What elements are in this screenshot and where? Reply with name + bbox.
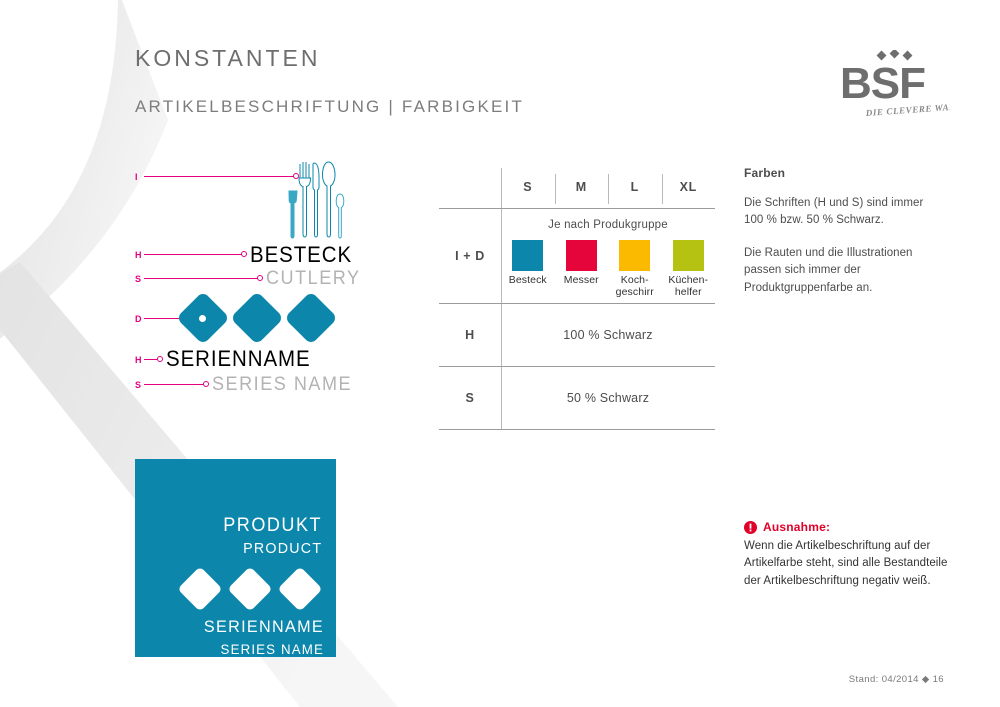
swatch-color-kochgeschirr <box>619 240 650 271</box>
card-product-label: PRODUCT <box>243 540 322 557</box>
table-value-h: 100 % Schwarz <box>563 328 652 342</box>
svg-text:BSF: BSF <box>840 59 925 108</box>
table-row-label-id: I + D <box>439 209 501 303</box>
exception-header: Ausnahme: <box>744 520 949 534</box>
callout-line-i <box>144 176 296 177</box>
table-row-label-h: H <box>439 328 501 342</box>
callout-label-h2: H <box>135 356 142 365</box>
swatch-group: Besteck Messer Koch-geschirr Küchen-helf… <box>501 240 715 299</box>
table-divider-s <box>501 367 502 429</box>
callout-line-h1 <box>144 254 244 255</box>
callout-label-s2: S <box>135 381 142 390</box>
table-col-m: M <box>555 166 609 208</box>
exception-title: Ausnahme: <box>763 520 830 534</box>
card-rhomb-group <box>181 567 321 611</box>
headline-besteck: BESTECK <box>250 244 352 266</box>
notes-paragraph-1: Die Schriften (H und S) sind immer 100 %… <box>744 195 944 230</box>
table-divider-2 <box>608 174 609 204</box>
card-rhomb-1 <box>177 566 222 611</box>
callout-dot-s1 <box>257 275 263 281</box>
callout-dot-s2 <box>203 381 209 387</box>
swatch-item-kuechenhelfer: Küchen-helfer <box>662 240 716 299</box>
table-divider-0 <box>501 168 502 208</box>
table-row-s: S 50 % Schwarz <box>439 367 715 429</box>
exception-body: Wenn die Artikelbeschriftung auf der Art… <box>744 538 949 590</box>
callout-label-h1: H <box>135 251 142 260</box>
callout-label-i: I <box>135 173 138 182</box>
table-divider-id <box>501 209 502 303</box>
headline-serienname: SERIENNAME <box>166 348 311 370</box>
warning-icon <box>744 521 757 534</box>
table-row-h: H 100 % Schwarz <box>439 304 715 366</box>
page-title: KONSTANTEN <box>135 45 320 72</box>
card-rhomb-3 <box>277 566 322 611</box>
swatch-caption-kuechenhelfer: Küchen-helfer <box>668 275 708 299</box>
swatch-color-besteck <box>512 240 543 271</box>
table-divider-h <box>501 304 502 366</box>
card-produkt-label: PRODUKT <box>223 515 322 537</box>
card-rhomb-2 <box>227 566 272 611</box>
swatch-color-messer <box>566 240 597 271</box>
page-subtitle: ARTIKELBESCHRIFTUNG | FARBIGKEIT <box>135 97 524 117</box>
callout-line-s1 <box>144 278 260 279</box>
notes-paragraph-2: Die Rauten und die Illustrationen passen… <box>744 245 944 297</box>
callout-dot-d <box>199 315 206 322</box>
diamond-rhomb-2 <box>230 291 284 345</box>
table-row-id: I + D Je nach Produkgruppe Besteck Messe… <box>439 209 715 303</box>
card-series-name-label: SERIES NAME <box>144 641 324 657</box>
table-divider-1 <box>555 174 556 204</box>
callout-label-d: D <box>135 315 142 324</box>
product-card-preview: PRODUKT PRODUCT SERIENNAME SERIES NAME <box>135 459 336 657</box>
spec-diagram: I H BESTECK S <box>130 160 350 400</box>
table-col-s: S <box>501 166 555 208</box>
table-header-corner <box>439 166 501 208</box>
notes-panel: Farben Die Schriften (H und S) sind imme… <box>744 166 944 297</box>
bsf-logo-icon: BSF DIE CLEVERE WAHL <box>838 50 950 122</box>
callout-line-s2 <box>144 384 206 385</box>
swatch-caption-kochgeschirr: Koch-geschirr <box>616 275 654 299</box>
swatch-color-kuechenhelfer <box>673 240 704 271</box>
footer-status: Stand: 04/2014 ◆ 16 <box>849 674 944 685</box>
swatch-caption-besteck: Besteck <box>509 275 547 287</box>
table-value-s: 50 % Schwarz <box>567 391 649 405</box>
table-rule-4 <box>439 429 715 430</box>
swatch-item-besteck: Besteck <box>501 240 555 299</box>
callout-dot-h1 <box>241 251 247 257</box>
swatch-item-messer: Messer <box>555 240 609 299</box>
callout-label-s1: S <box>135 275 142 284</box>
table-header-row: S M L XL <box>439 166 715 208</box>
swatch-caption-messer: Messer <box>564 275 599 287</box>
table-row-label-s: S <box>439 391 501 405</box>
slide-page: KONSTANTEN ARTIKELBESCHRIFTUNG | FARBIGK… <box>0 0 1000 707</box>
cutlery-illustration <box>285 160 345 240</box>
callout-dot-h2 <box>157 356 163 362</box>
color-spec-table: S M L XL I + D Je nach Produkgruppe Best… <box>439 166 715 430</box>
diamond-rhomb-3 <box>284 291 338 345</box>
table-col-l: L <box>608 166 662 208</box>
subline-series-name: SERIES NAME <box>212 375 352 394</box>
subline-cutlery: CUTLERY <box>266 269 361 288</box>
exception-panel: Ausnahme: Wenn die Artikelbeschriftung a… <box>744 520 949 590</box>
table-col-xl: XL <box>662 166 716 208</box>
card-serienname-label: SERIENNAME <box>144 617 324 637</box>
notes-title: Farben <box>744 166 944 180</box>
table-divider-3 <box>662 174 663 204</box>
table-note-je-nach: Je nach Produkgruppe <box>501 209 715 231</box>
swatch-item-kochgeschirr: Koch-geschirr <box>608 240 662 299</box>
